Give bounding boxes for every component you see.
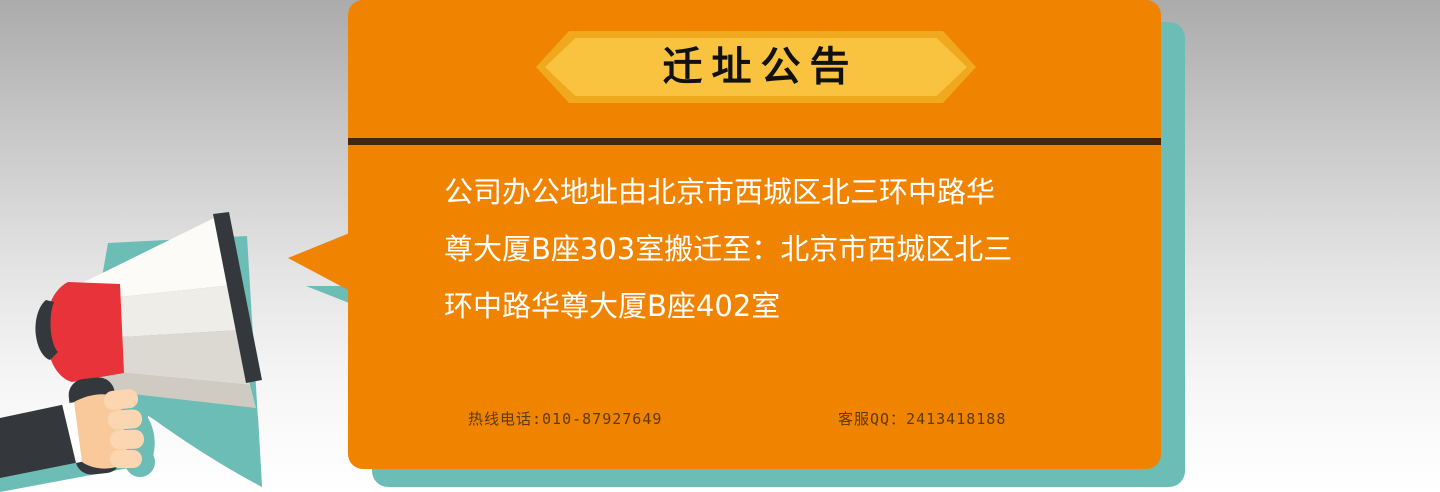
divider xyxy=(348,138,1161,145)
ribbon-banner: 迁址公告 xyxy=(536,31,976,103)
megaphone-collar xyxy=(46,282,124,382)
announcement-body: 公司办公地址由北京市西城区北三环中路华 尊大厦B座303室搬迁至：北京市西城区北… xyxy=(444,164,1094,335)
contact-footer: 热线电话:010-87927649 客服QQ：2413418188 xyxy=(468,408,1068,429)
finger-2 xyxy=(107,409,142,430)
body-line: 环中路华尊大厦B座402室 xyxy=(444,278,1094,335)
announcement-banner: 迁址公告 公司办公地址由北京市西城区北三环中路华 尊大厦B座303室搬迁至：北京… xyxy=(0,0,1440,492)
hotline-text: 热线电话:010-87927649 xyxy=(468,408,838,429)
card-tail xyxy=(288,232,352,292)
body-line: 公司办公地址由北京市西城区北三环中路华 xyxy=(444,164,1094,221)
finger-4 xyxy=(110,450,142,468)
qq-text: 客服QQ：2413418188 xyxy=(838,408,1006,429)
page-title: 迁址公告 xyxy=(536,31,976,103)
finger-3 xyxy=(110,429,145,449)
body-line: 尊大厦B座303室搬迁至：北京市西城区北三 xyxy=(444,221,1094,278)
announcement-card: 迁址公告 公司办公地址由北京市西城区北三环中路华 尊大厦B座303室搬迁至：北京… xyxy=(348,0,1161,469)
